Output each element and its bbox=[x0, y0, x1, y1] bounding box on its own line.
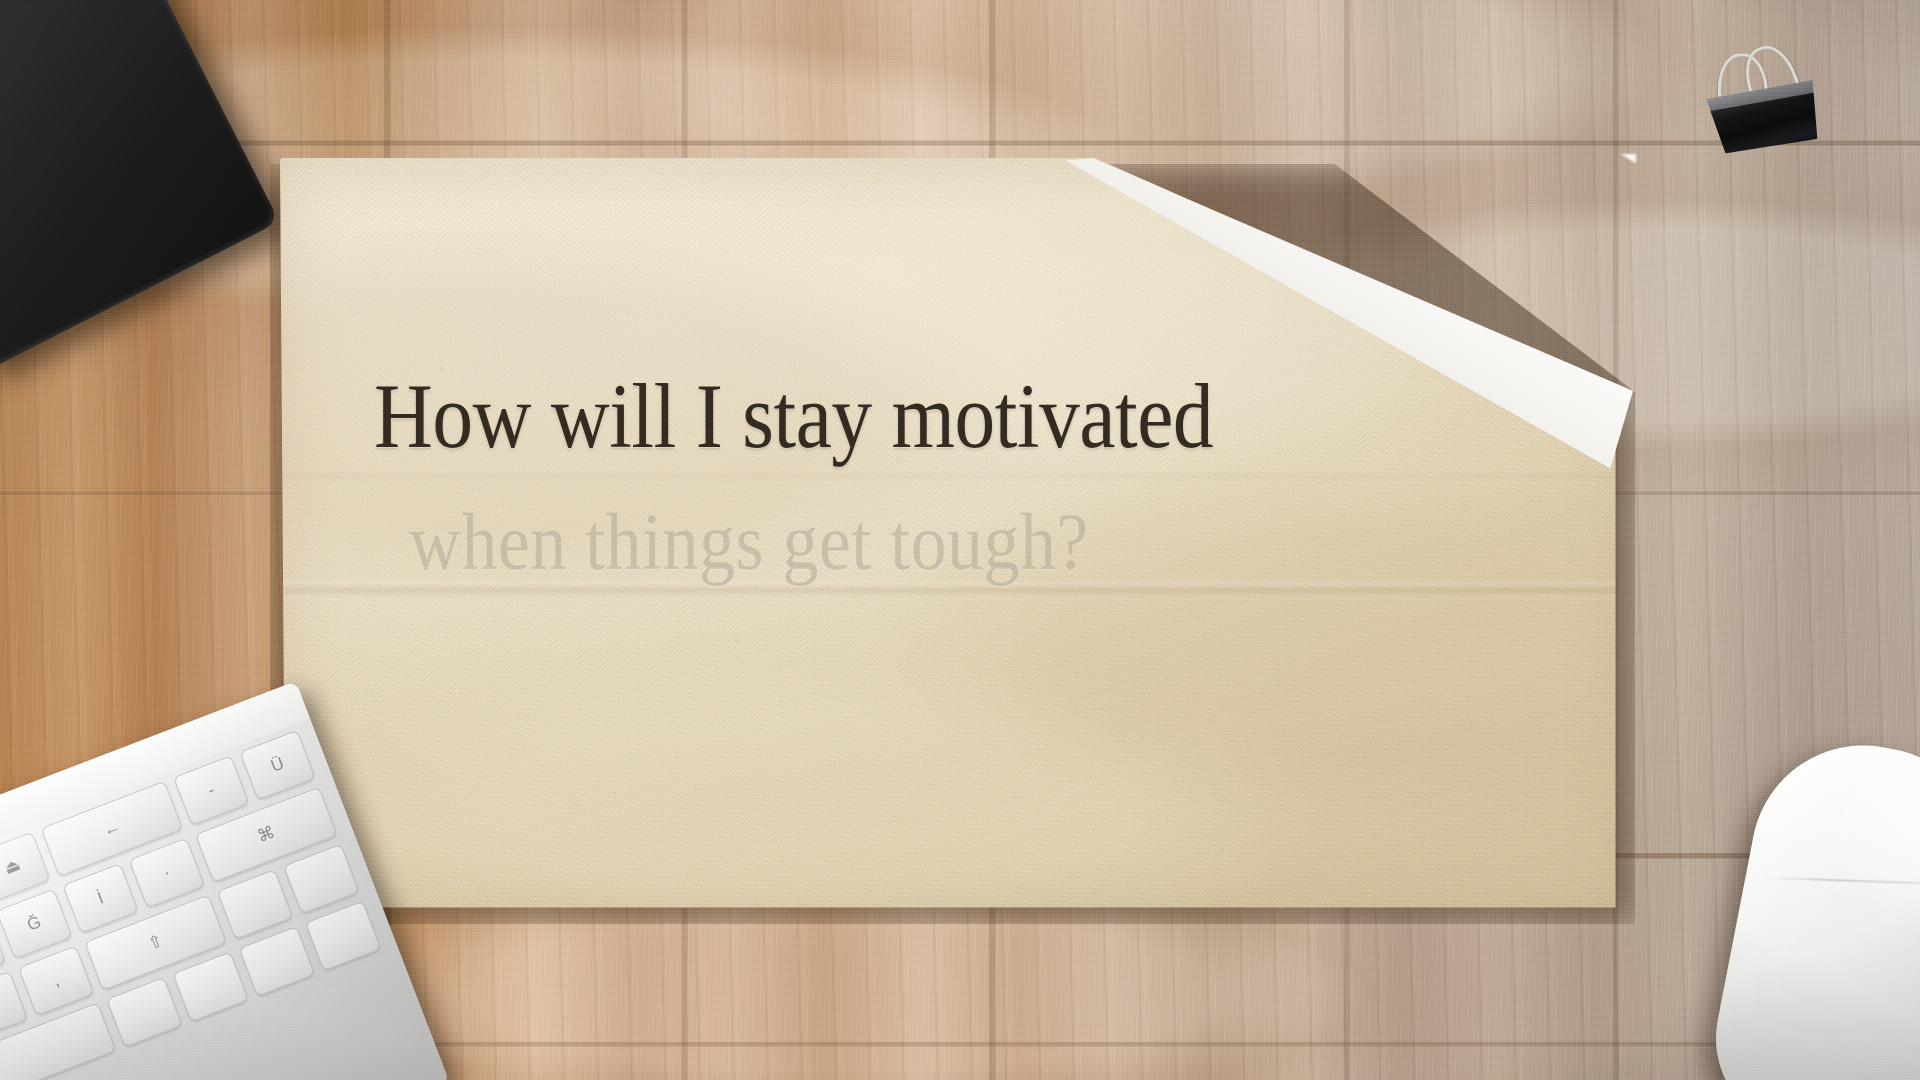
keyboard-key bbox=[106, 977, 183, 1048]
keyboard-key bbox=[239, 926, 316, 997]
binder-clip bbox=[1689, 31, 1831, 173]
note-subline: when things get tough? bbox=[409, 502, 1498, 585]
mouse-seam-line bbox=[1761, 877, 1920, 886]
keyboard-key bbox=[172, 952, 249, 1023]
keyboard-key: · bbox=[129, 838, 206, 909]
paper-note: How will I stay motivated when things ge… bbox=[280, 158, 1625, 912]
note-headline: How will I stay motivated bbox=[374, 369, 1445, 465]
paper-crease-upper bbox=[280, 471, 1625, 480]
keyboard-key: , bbox=[18, 945, 95, 1016]
scene-stage: How will I stay motivated when things ge… bbox=[0, 0, 1920, 1080]
keyboard-key bbox=[305, 901, 382, 972]
keyboard-key bbox=[283, 844, 360, 915]
keyboard-key: Ğ bbox=[0, 889, 73, 960]
keyboard-key: İ bbox=[62, 863, 139, 934]
keyboard-key bbox=[217, 869, 294, 940]
